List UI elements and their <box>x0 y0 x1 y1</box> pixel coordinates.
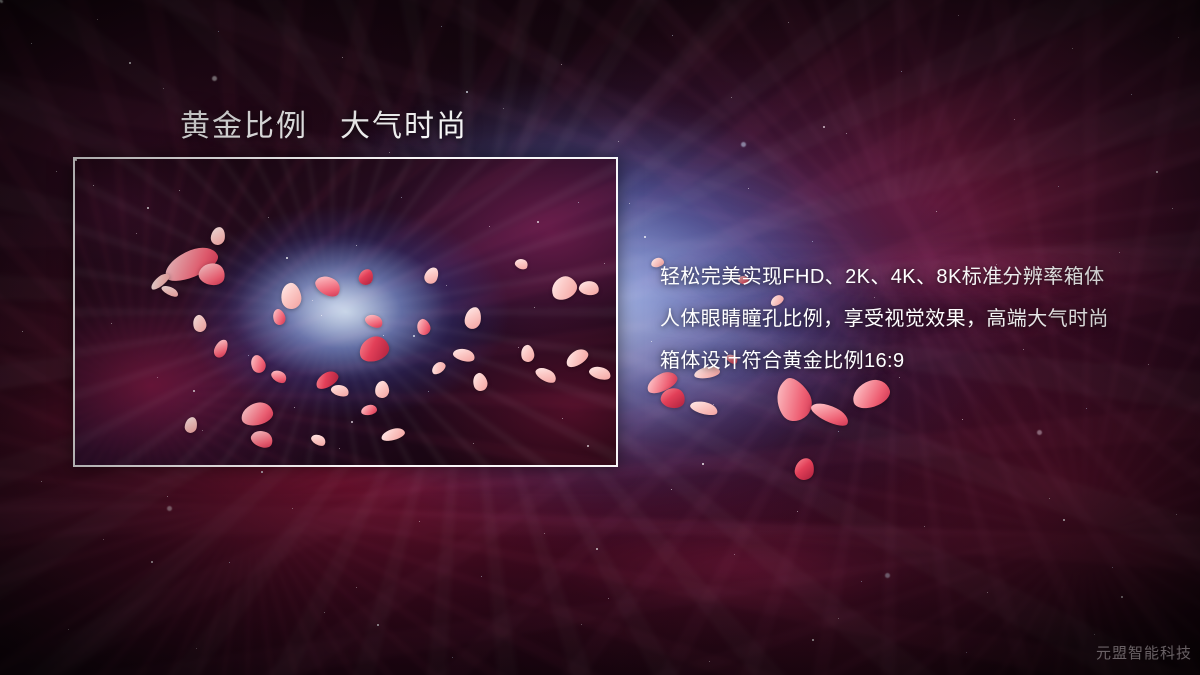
body-line-2: 人体眼睛瞳孔比例，享受视觉效果，高端大气时尚 <box>660 298 1160 340</box>
body-line-3: 箱体设计符合黄金比例16:9 <box>660 340 1160 382</box>
framed-image <box>73 157 618 467</box>
star-layer-inner-bright <box>75 159 77 161</box>
presentation-slide: 黄金比例 大气时尚 轻松完美实现FHD、2K、4K、8K标准分辨率箱体 人体眼睛… <box>0 0 1200 675</box>
framed-image-starfield <box>75 159 616 465</box>
body-text-block: 轻松完美实现FHD、2K、4K、8K标准分辨率箱体 人体眼睛瞳孔比例，享受视觉效… <box>660 256 1160 382</box>
page-title: 黄金比例 大气时尚 <box>180 101 468 145</box>
body-line-1: 轻松完美实现FHD、2K、4K、8K标准分辨率箱体 <box>660 256 1160 298</box>
watermark: 元盟智能科技 <box>1096 642 1192 663</box>
